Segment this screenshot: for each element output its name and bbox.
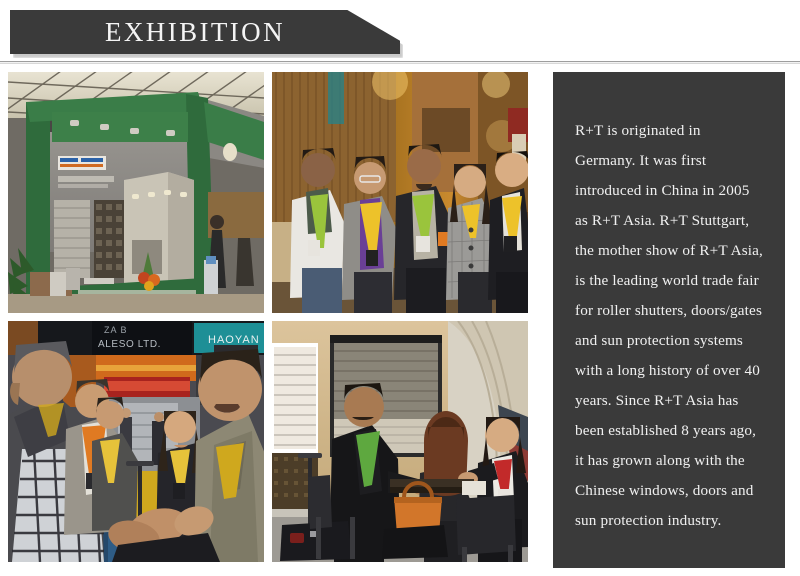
gallery-photo-booth-green[interactable] — [8, 72, 264, 313]
booth-sign-secondary: ALESO LTD. — [98, 339, 161, 350]
header-divider — [0, 61, 800, 64]
meeting-image — [272, 321, 528, 562]
booth-green-image — [8, 72, 264, 313]
page-header: EXHIBITION — [0, 0, 800, 64]
exhibition-description-panel: R+T is originated in Germany. It was fir… — [553, 72, 785, 568]
booth-sign-haoyan: HAOYAN — [208, 334, 260, 346]
gallery-photo-handshake[interactable]: ZA B ALESO LTD. HAOYAN — [8, 321, 264, 562]
gallery-photo-group-photo[interactable] — [272, 72, 528, 313]
exhibition-banner: EXHIBITION — [10, 10, 400, 54]
gallery-photo-meeting[interactable] — [272, 321, 528, 562]
booth-sign-primary: ZA B — [104, 325, 128, 335]
banner-shape: EXHIBITION — [10, 10, 400, 54]
page-title: EXHIBITION — [105, 19, 285, 46]
photo-gallery: ZA B ALESO LTD. HAOYAN — [8, 72, 545, 562]
exhibition-description-text: R+T is originated in Germany. It was fir… — [575, 116, 763, 536]
group-photo-image — [272, 72, 528, 313]
handshake-image: ZA B ALESO LTD. HAOYAN — [8, 321, 264, 562]
